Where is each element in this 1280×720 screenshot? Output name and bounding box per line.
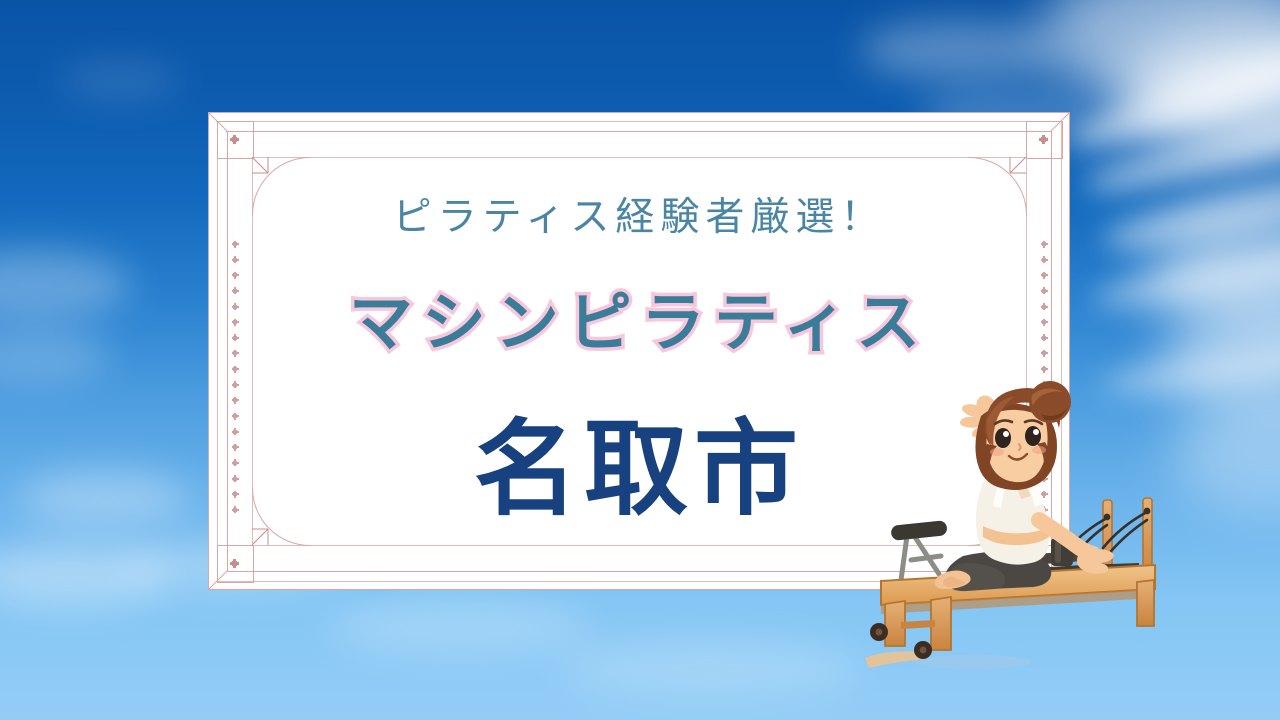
banner-subtitle: ピラティス経験者厳選！: [208, 186, 1070, 242]
banner-main-title: マシンピラティス: [208, 272, 1070, 364]
pilates-illustration: [855, 360, 1175, 680]
banner-stage: ピラティス経験者厳選！ マシンピラティス 名取市: [0, 0, 1280, 720]
